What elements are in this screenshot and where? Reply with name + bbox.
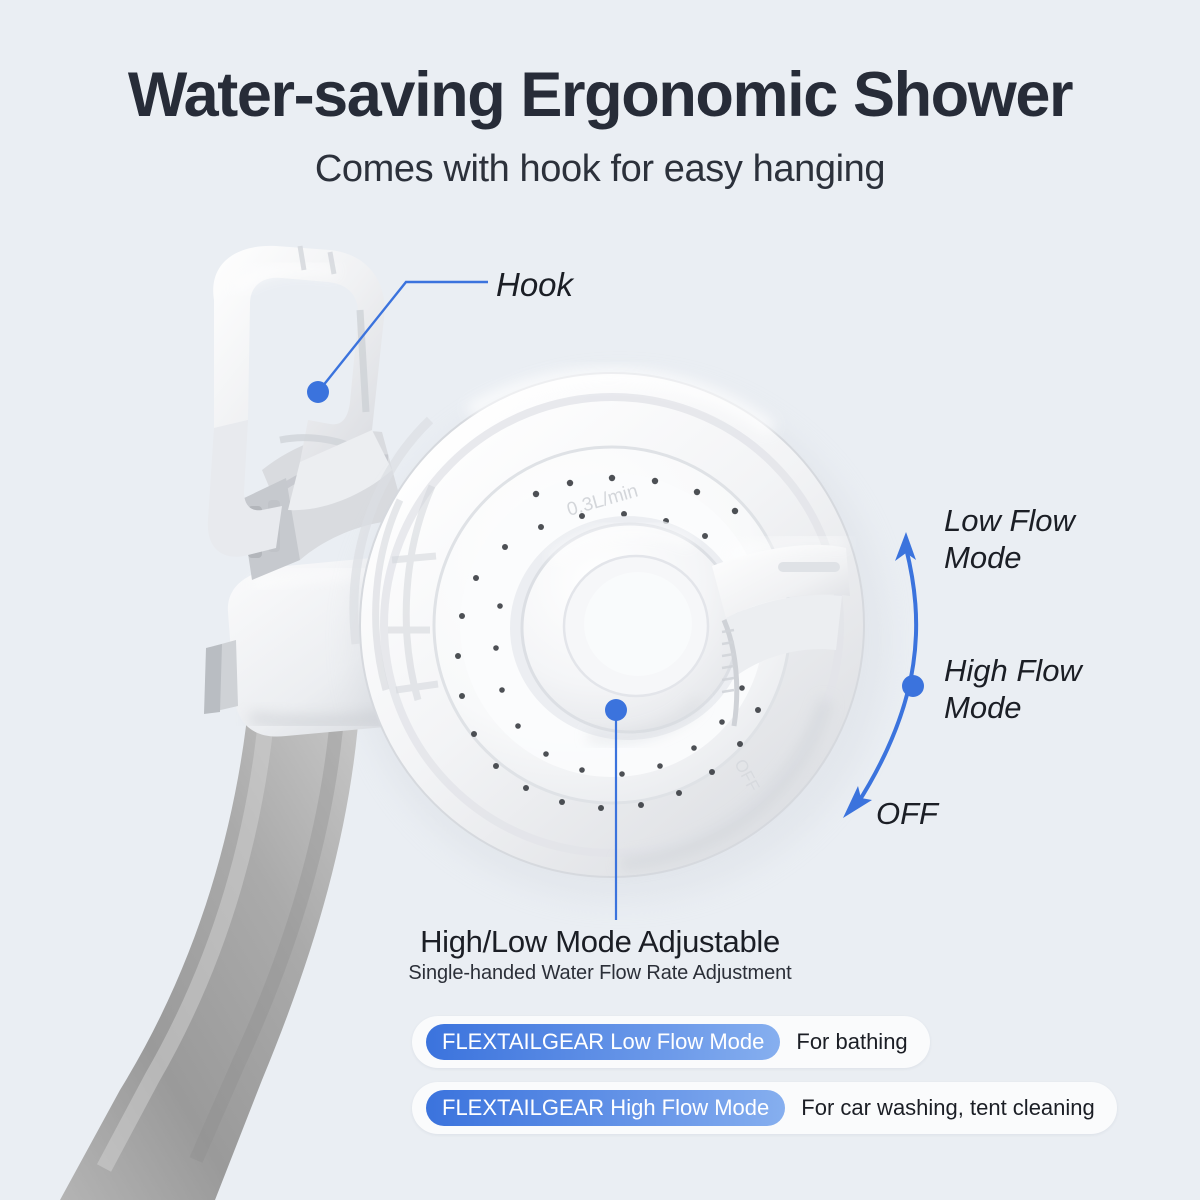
knob-leader-dot (605, 699, 627, 721)
hook-leader-dot (307, 381, 329, 403)
infographic-canvas: Water-saving Ergonomic Shower Comes with… (0, 0, 1200, 1200)
mode-row-high: FLEXTAILGEAR High Flow Mode For car wash… (412, 1082, 1117, 1134)
mode-list: FLEXTAILGEAR Low Flow Mode For bathing F… (412, 1016, 1117, 1148)
callout-low-flow-mode: Low Flow Mode (944, 502, 1124, 576)
feature-subtext: Single-handed Water Flow Rate Adjustment (0, 962, 1200, 985)
mode-badge-low: FLEXTAILGEAR Low Flow Mode (426, 1024, 780, 1060)
arc-arrow-up-icon (895, 532, 916, 561)
arc-high-flow-dot (902, 675, 924, 697)
mode-row-low: FLEXTAILGEAR Low Flow Mode For bathing (412, 1016, 930, 1068)
mode-use-low: For bathing (796, 1029, 907, 1055)
mode-badge-high: FLEXTAILGEAR High Flow Mode (426, 1090, 785, 1126)
feature-headline: High/Low Mode Adjustable (0, 924, 1200, 960)
callout-off: OFF (876, 796, 938, 832)
hook-leader-line (318, 282, 488, 392)
callout-hook: Hook (496, 266, 573, 304)
mode-use-high: For car washing, tent cleaning (801, 1095, 1095, 1121)
callout-high-flow-mode: High Flow Mode (944, 652, 1134, 726)
